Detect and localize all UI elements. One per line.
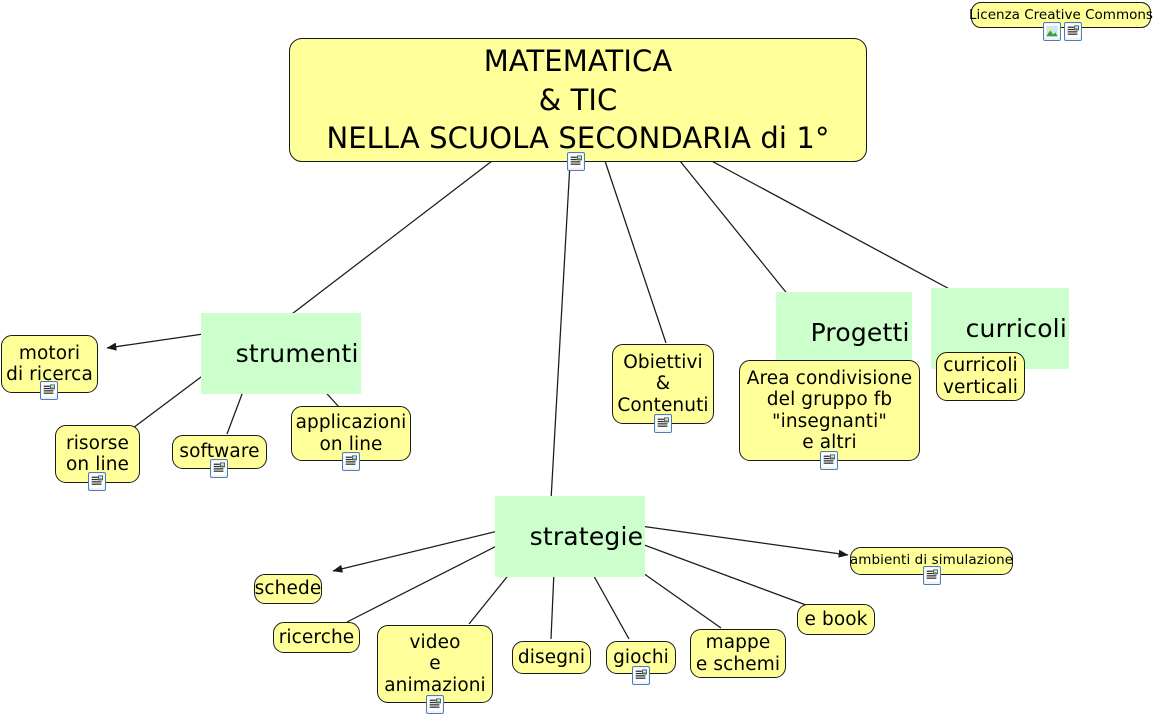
edge-root-obiettivi: [605, 161, 666, 343]
ambienti-di-simulazione-note-icon[interactable]: [923, 566, 941, 585]
node-disegni[interactable]: disegni: [512, 641, 591, 674]
video-animazioni-note-icon[interactable]: [426, 695, 444, 714]
image-icon[interactable]: [1043, 22, 1061, 41]
motori-di-ricerca-note-icon[interactable]: [40, 381, 58, 400]
node-risorse-on-line-label: risorse on line: [66, 433, 129, 476]
node-schede[interactable]: schede: [254, 574, 322, 604]
node-giochi-label: giochi: [613, 647, 669, 668]
edge-root-progetti: [680, 161, 789, 296]
applicazioni-on-line-note-icon[interactable]: [342, 452, 360, 471]
note-icon[interactable]: [1064, 22, 1082, 41]
node-area-condivisione-label: Area condivisione del gruppo fb "insegna…: [747, 368, 913, 454]
edge-root-strategie: [551, 163, 570, 500]
risorse-on-line-note-icon[interactable]: [88, 472, 106, 491]
node-mappe-e-schemi-label: mappe e schemi: [696, 632, 780, 675]
node-applicazioni-on-line-label: applicazioni on line: [296, 412, 407, 455]
obiettivi-contenuti-note-icon[interactable]: [654, 414, 672, 433]
root-node[interactable]: MATEMATICA & TIC NELLA SCUOLA SECONDARIA…: [289, 38, 867, 162]
branch-label-strumenti-text: strumenti: [236, 339, 359, 368]
node-obiettivi-contenuti-label: Obiettivi & Contenuti: [617, 352, 708, 416]
software-note-icon[interactable]: [210, 459, 228, 478]
branch-label-strategie-text: strategie: [530, 522, 644, 551]
node-curricoli-verticali[interactable]: curricoli verticali: [936, 352, 1025, 401]
node-curricoli-verticali-label: curricoli verticali: [943, 355, 1018, 398]
node-schede-label: schede: [255, 578, 322, 599]
node-e-book[interactable]: e book: [797, 604, 875, 635]
area-condivisione-note-icon[interactable]: [820, 451, 838, 470]
branch-label-strumenti[interactable]: strumenti: [201, 313, 361, 394]
node-area-condivisione[interactable]: Area condivisione del gruppo fb "insegna…: [739, 360, 920, 461]
node-e-book-label: e book: [805, 609, 868, 630]
concept-map-canvas: Licenza Creative Commons: [0, 0, 1153, 716]
edge-root-curricoli: [706, 158, 955, 292]
edge-strumenti-motori: [107, 333, 210, 348]
license-label: Licenza Creative Commons: [969, 7, 1153, 23]
node-obiettivi-contenuti[interactable]: Obiettivi & Contenuti: [612, 344, 714, 424]
node-ricerche-label: ricerche: [279, 627, 355, 648]
branch-label-curricoli-text: curricoli: [966, 314, 1067, 343]
root-note-icon[interactable]: [567, 152, 585, 171]
node-ricerche[interactable]: ricerche: [273, 622, 360, 653]
branch-label-strategie[interactable]: strategie: [495, 496, 645, 577]
node-motori-di-ricerca-label: motori di ricerca: [6, 343, 93, 386]
node-disegni-label: disegni: [518, 647, 585, 668]
node-mappe-e-schemi[interactable]: mappe e schemi: [690, 629, 786, 678]
branch-label-progetti-text: Progetti: [811, 318, 910, 347]
node-video-animazioni-label: video e animazioni: [384, 632, 486, 696]
root-node-label: MATEMATICA & TIC NELLA SCUOLA SECONDARIA…: [326, 42, 829, 158]
giochi-note-icon[interactable]: [632, 666, 650, 685]
node-video-animazioni[interactable]: video e animazioni: [377, 625, 493, 703]
edge-root-strumenti: [288, 161, 492, 317]
license-badges[interactable]: [1043, 22, 1082, 41]
